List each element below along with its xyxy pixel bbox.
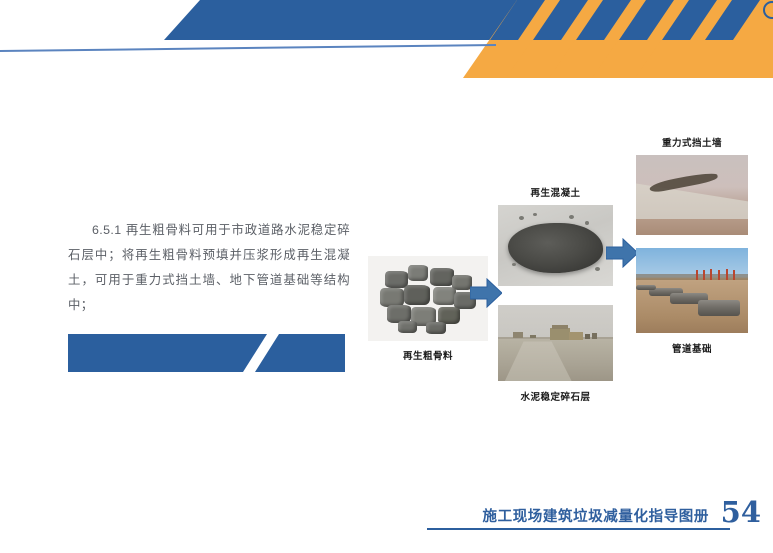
flow-node-pipeline-foundation: 管道基础 — [636, 248, 748, 355]
page-number: 54 — [721, 495, 761, 529]
photo-cement-stabilized-macadam — [498, 305, 613, 381]
body-text-block: 6.5.1 再生粗骨料可用于市政道路水泥稳定碎石层中；将再生粗骨料预填并压浆形成… — [68, 218, 350, 318]
flow-node-gravity-retaining-wall: 重力式挡土墙 — [636, 135, 748, 235]
flow-node-concrete-caption: 再生混凝土 — [498, 185, 613, 199]
header-decoration — [0, 0, 773, 95]
flow-arrow-right-2 — [606, 238, 638, 268]
slide-page: 6.5.1 再生粗骨料可用于市政道路水泥稳定碎石层中；将再生粗骨料预填并压浆形成… — [0, 0, 773, 553]
photo-recycled-concrete — [498, 205, 613, 286]
flow-node-wall-caption: 重力式挡土墙 — [636, 135, 748, 149]
flow-node-aggregate: 再生粗骨料 — [368, 256, 488, 362]
flow-node-recycled-concrete: 再生混凝土 — [498, 185, 613, 286]
blue-slash-bar — [68, 334, 345, 372]
footer-rule — [427, 528, 730, 530]
flow-node-pipe-caption: 管道基础 — [636, 341, 748, 355]
page-footer: 施工现场建筑垃圾减量化指导图册 54 — [0, 490, 773, 553]
footer-title: 施工现场建筑垃圾减量化指导图册 — [483, 505, 710, 526]
flow-node-aggregate-caption: 再生粗骨料 — [368, 348, 488, 362]
slash-bar-left-shape — [68, 334, 267, 372]
paragraph-6-5-1: 6.5.1 再生粗骨料可用于市政道路水泥稳定碎石层中；将再生粗骨料预填并压浆形成… — [68, 218, 350, 318]
photo-gravity-retaining-wall — [636, 155, 748, 235]
header-rule — [0, 44, 496, 52]
flow-node-macadam-caption: 水泥稳定碎石层 — [498, 389, 613, 403]
photo-pipeline-foundation — [636, 248, 748, 333]
arrow-right-icon — [606, 239, 638, 267]
process-flow-diagram: 再生粗骨料 再生混凝土 — [360, 130, 773, 420]
slash-bar-right-shape — [255, 334, 345, 372]
flow-node-cement-macadam: 水泥稳定碎石层 — [498, 305, 613, 403]
